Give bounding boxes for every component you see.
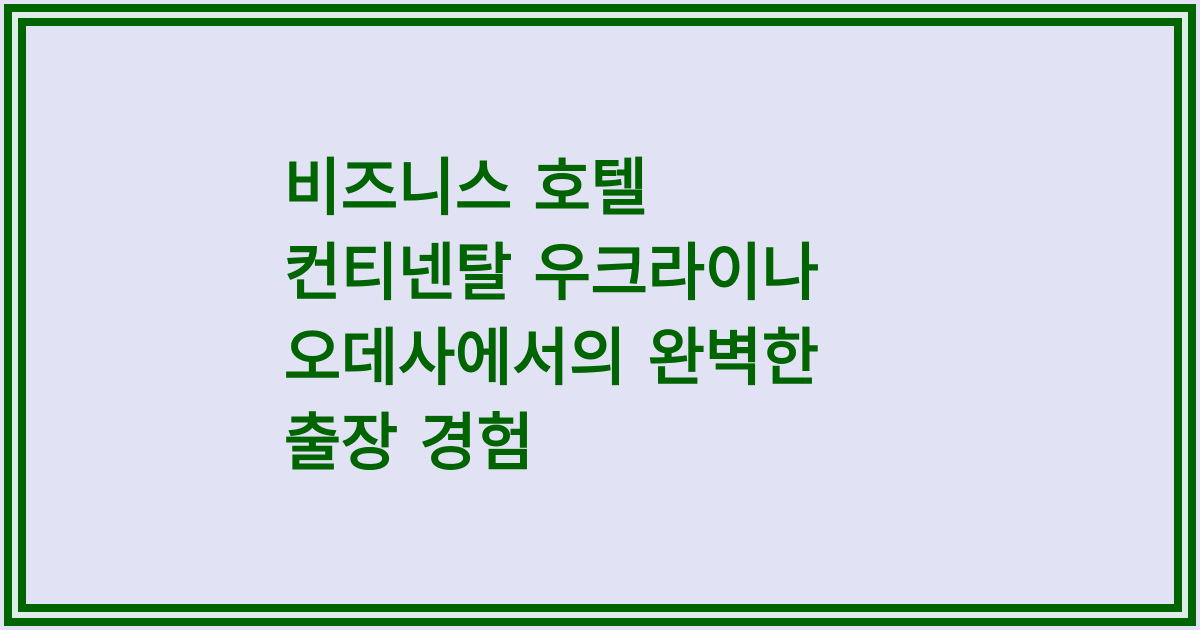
inner-border-frame: 비즈니스 호텔 컨티넨탈 우크라이나 오데사에서의 완벽한 출장 경험 [18, 18, 1182, 612]
headline-container: 비즈니스 호텔 컨티넨탈 우크라이나 오데사에서의 완벽한 출장 경험 [26, 145, 1174, 485]
poster-canvas: 비즈니스 호텔 컨티넨탈 우크라이나 오데사에서의 완벽한 출장 경험 [0, 0, 1200, 630]
outer-border-frame: 비즈니스 호텔 컨티넨탈 우크라이나 오데사에서의 완벽한 출장 경험 [4, 4, 1196, 626]
page-title: 비즈니스 호텔 컨티넨탈 우크라이나 오데사에서의 완벽한 출장 경험 [284, 145, 1134, 485]
